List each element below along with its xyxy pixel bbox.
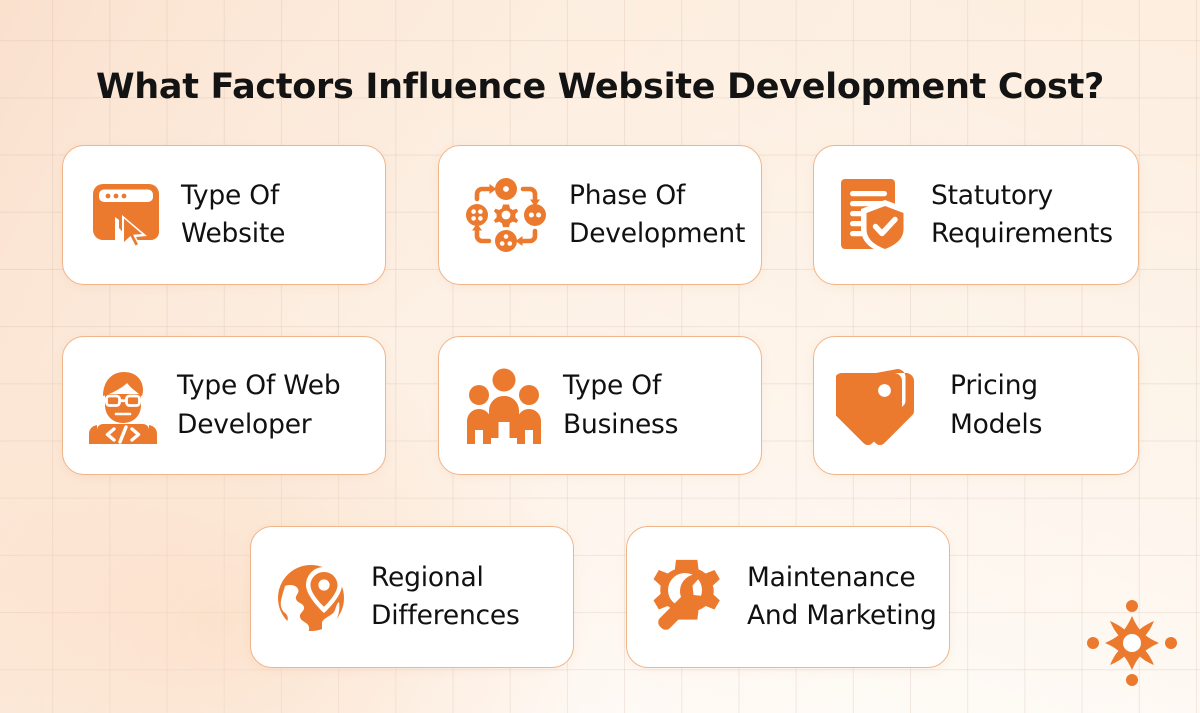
factor-card-pricing-models[interactable]: Pricing Models <box>813 336 1139 475</box>
price-tags-icon <box>836 367 928 445</box>
factor-card-type-of-website[interactable]: Type Of Website <box>62 145 386 285</box>
factor-card-statutory-requirements[interactable]: Statutory Requirements <box>813 145 1139 285</box>
globe-location-pin-icon <box>275 559 351 635</box>
page-title: What Factors Influence Website Developme… <box>0 67 1200 107</box>
factor-card-label: Phase Of Development <box>569 177 745 253</box>
factor-card-phase-of-development[interactable]: Phase Of Development <box>438 145 762 285</box>
factor-card-label: Maintenance And Marketing <box>747 559 937 635</box>
document-shield-check-icon <box>839 176 911 254</box>
factor-card-label: Type Of Web Developer <box>177 367 340 443</box>
factor-card-type-of-web-developer[interactable]: Type Of Web Developer <box>62 336 386 475</box>
factor-card-label: Type Of Website <box>181 177 285 253</box>
people-group-icon <box>463 366 545 446</box>
four-point-star-logo <box>1083 598 1181 690</box>
developer-avatar-code-icon <box>87 366 159 446</box>
factor-card-label: Statutory Requirements <box>931 177 1113 253</box>
factor-card-label: Pricing Models <box>950 367 1042 443</box>
cycle-gear-process-icon <box>461 176 551 254</box>
factor-card-label: Regional Differences <box>371 559 520 635</box>
infographic-canvas: What Factors Influence Website Developme… <box>0 0 1200 713</box>
gear-wrench-icon <box>649 557 729 637</box>
factor-card-label: Type Of Business <box>563 367 678 443</box>
factor-card-regional-differences[interactable]: Regional Differences <box>250 526 574 668</box>
factor-card-type-of-business[interactable]: Type Of Business <box>438 336 762 475</box>
factor-card-maintenance-and-marketing[interactable]: Maintenance And Marketing <box>626 526 950 668</box>
browser-window-cursor-icon <box>89 180 163 250</box>
